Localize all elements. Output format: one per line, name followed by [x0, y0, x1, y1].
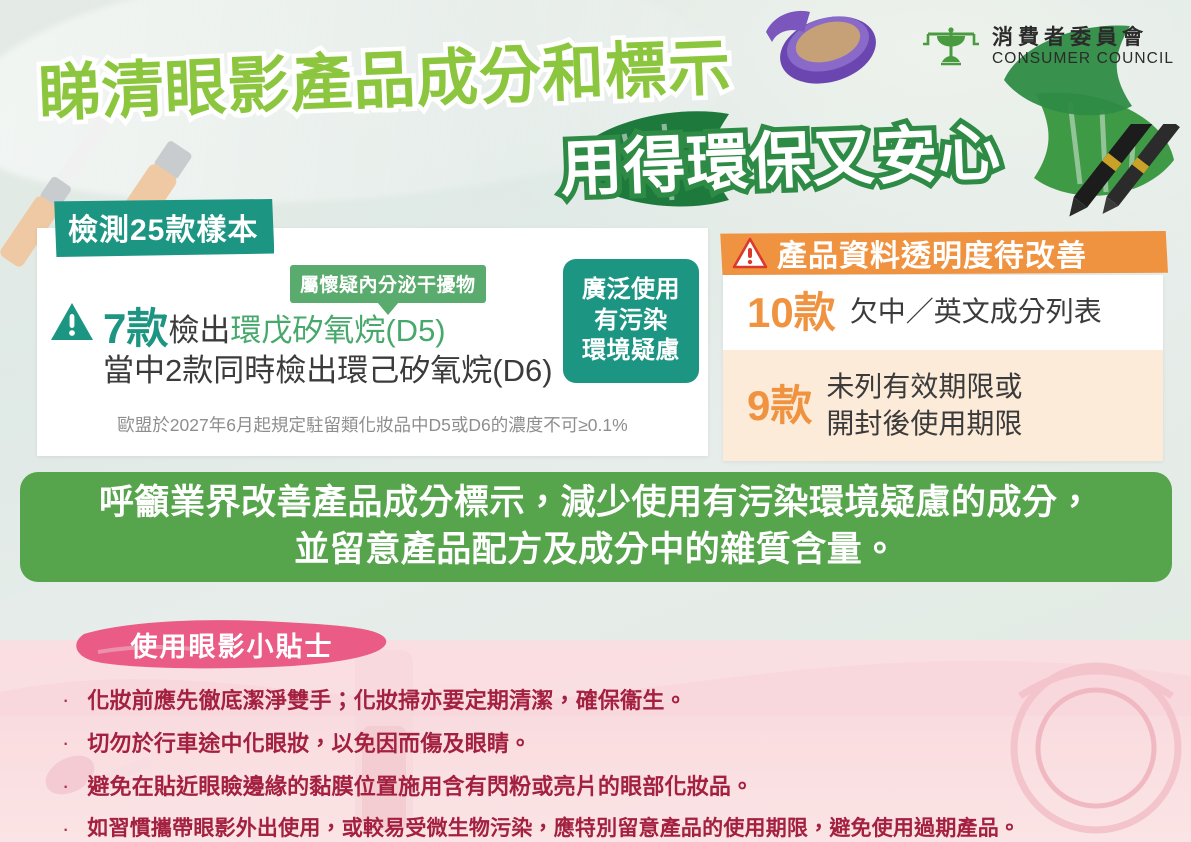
transparency-row-2: 9款 未列有效期限或 開封後使用期限: [723, 350, 1163, 461]
environment-concern-badge: 廣泛使用 有污染 環境疑慮: [563, 259, 699, 383]
tips-banner-label: 使用眼影小貼士: [72, 616, 392, 672]
missing-ingredient-list-text: 欠中／英文成分列表: [850, 294, 1102, 331]
transparency-tag: 產品資料透明度待改善: [718, 231, 1168, 275]
tip-text: 如習慣攜帶眼影外出使用，或較易受微生物污染，應特別留意產品的使用期限，避免使用過…: [87, 812, 1020, 842]
tip-text: 化妝前應先徹底潔淨雙手；化妝掃亦要定期清潔，確保衞生。: [87, 683, 686, 715]
bullet-icon: ·: [62, 818, 69, 840]
cta-line-1: 呼籲業界改善產品成分標示，減少使用有污染環境疑慮的成分，: [99, 480, 1093, 527]
missing-expiry-line2: 開封後使用期限: [826, 408, 1022, 439]
transparency-tag-label: 產品資料透明度待改善: [777, 231, 1087, 275]
test-samples-tag: 檢測25款樣本: [52, 199, 274, 257]
missing-expiry-line1: 未列有效期限或: [826, 371, 1022, 402]
d5-prefix: 檢出: [168, 313, 230, 348]
bullet-icon: ·: [62, 689, 69, 711]
infographic-canvas: 消費者委員會 CONSUMER COUNCIL 睇清眼影產品成分和標示 用得環保…: [0, 0, 1191, 842]
d6-detection-row: 當中2款同時檢出環己矽氧烷(D6): [103, 345, 553, 390]
missing-ingredient-list-count: 10款: [747, 292, 836, 334]
list-item: · 如習慣攜帶眼影外出使用，或較易受微生物污染，應特別留意產品的使用期限，避免使…: [62, 812, 1172, 842]
badge-line-3: 環境疑慮: [582, 336, 680, 367]
badge-line-2: 有污染: [594, 306, 668, 337]
tips-banner: 使用眼影小貼士: [72, 616, 392, 672]
exclamation-circle-icon: [50, 302, 94, 342]
warning-triangle-icon: [732, 237, 768, 269]
endocrine-disruptor-callout: 屬懷疑內分泌干擾物: [290, 265, 486, 303]
missing-expiry-text: 未列有效期限或 開封後使用期限: [826, 369, 1022, 443]
d5-substance: 環戊矽氧烷(D5): [230, 313, 445, 348]
missing-expiry-count: 9款: [747, 385, 812, 427]
logo-zh-label: 消費者委員會: [992, 27, 1174, 48]
badge-line-1: 廣泛使用: [582, 275, 680, 306]
list-item: · 切勿於行車途中化眼妝，以免因而傷及眼睛。: [62, 726, 1172, 758]
list-item: · 化妝前應先徹底潔淨雙手；化妝掃亦要定期清潔，確保衞生。: [62, 683, 1172, 715]
eu-regulation-footnote: 歐盟於2027年6月起規定駐留類化妝品中D5或D6的濃度不可≥0.1%: [37, 412, 708, 437]
tips-list: · 化妝前應先徹底潔淨雙手；化妝掃亦要定期清潔，確保衞生。 · 切勿於行車途中化…: [62, 683, 1172, 842]
bullet-icon: ·: [62, 775, 69, 797]
cta-line-2: 並留意產品配方及成分中的雜質含量。: [294, 527, 898, 574]
balance-scale-icon: [920, 24, 982, 70]
bullet-icon: ·: [62, 732, 69, 754]
eyeliner-pencil-icon: [1052, 124, 1191, 244]
tip-text: 切勿於行車途中化眼妝，以免因而傷及眼睛。: [87, 726, 531, 758]
transparency-row-1: 10款 欠中／英文成分列表: [723, 275, 1163, 350]
purple-compact-pot-icon: [752, 2, 882, 88]
transparency-panel: 10款 欠中／英文成分列表 9款 未列有效期限或 開封後使用期限: [723, 275, 1163, 461]
logo-en-label: CONSUMER COUNCIL: [992, 51, 1174, 67]
call-to-action-banner: 呼籲業界改善產品成分標示，減少使用有污染環境疑慮的成分， 並留意產品配方及成分中…: [20, 472, 1172, 582]
page-title-line2: 用得環保又安心: [558, 102, 1002, 209]
list-item: · 避免在貼近眼瞼邊緣的黏膜位置施用含有閃粉或亮片的眼部化妝品。: [62, 769, 1172, 801]
tip-text: 避免在貼近眼瞼邊緣的黏膜位置施用含有閃粉或亮片的眼部化妝品。: [87, 769, 753, 801]
consumer-council-logo: 消費者委員會 CONSUMER COUNCIL: [920, 24, 1174, 70]
